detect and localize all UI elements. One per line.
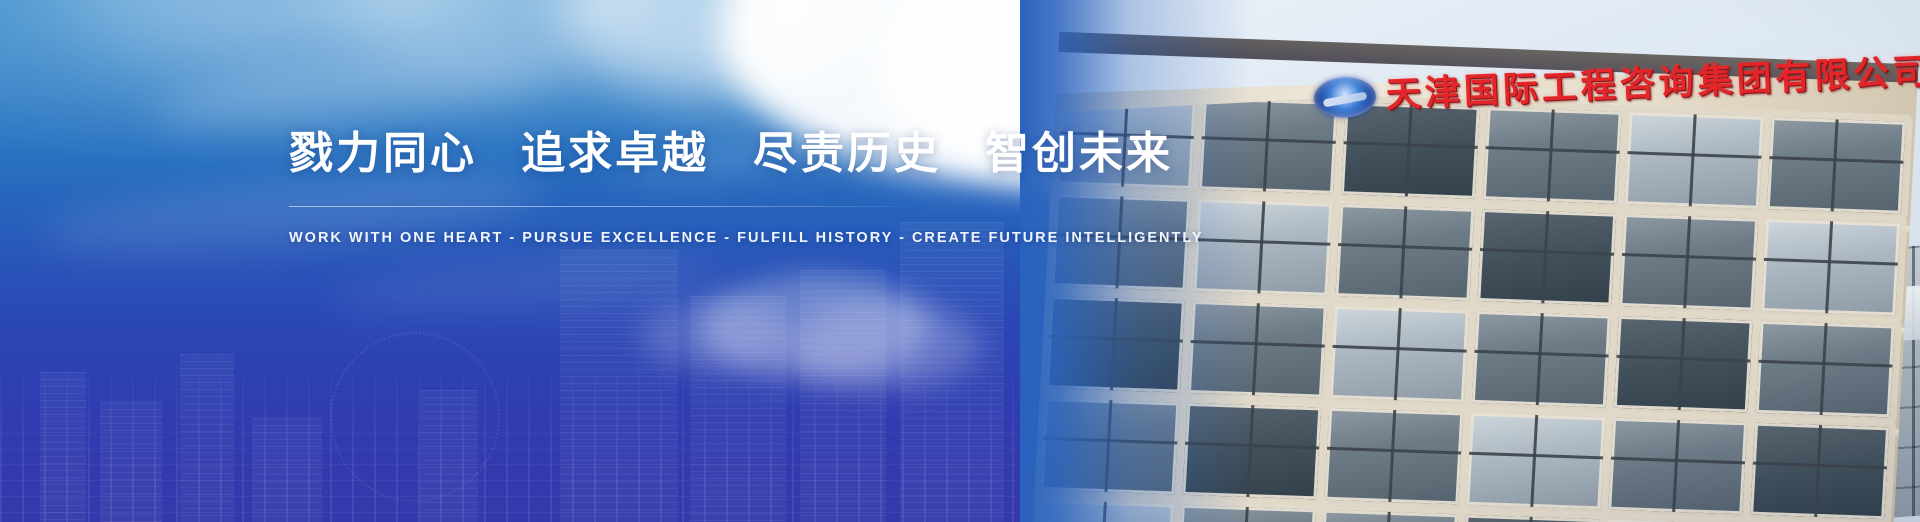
window bbox=[1040, 398, 1179, 495]
window bbox=[1035, 500, 1174, 522]
window bbox=[1619, 214, 1758, 311]
page-subtitle: WORK WITH ONE HEART - PURSUE EXCELLENCE … bbox=[289, 230, 1204, 246]
headline-phrase-4: 智创未来 bbox=[985, 128, 1173, 180]
window bbox=[1750, 423, 1889, 520]
office-building-photo: 天津国际工程咨询集团有限公司 bbox=[1020, 0, 1920, 522]
window bbox=[1472, 311, 1611, 408]
headline-phrase-3: 尽责历史 bbox=[753, 128, 941, 180]
window bbox=[1182, 403, 1321, 500]
headline-phrase-2: 追求卓越 bbox=[521, 128, 709, 180]
hero-banner: 天津国际工程咨询集团有限公司 戮力同心 追求卓越 尽责历史 智创未来 WORK … bbox=[0, 0, 1920, 522]
page-title: 戮力同心 追求卓越 尽责历史 智创未来 bbox=[289, 128, 1204, 180]
window bbox=[1177, 505, 1316, 522]
window bbox=[1324, 408, 1463, 505]
headline-phrase-1: 戮力同心 bbox=[289, 128, 477, 180]
window bbox=[1625, 112, 1764, 209]
low-cloud-2 bbox=[790, 300, 980, 390]
window bbox=[1330, 306, 1469, 403]
company-oval-logo-icon bbox=[1313, 76, 1377, 119]
window bbox=[1761, 219, 1900, 316]
window bbox=[1466, 413, 1605, 510]
window bbox=[1319, 510, 1458, 522]
window bbox=[1335, 204, 1474, 301]
building-sign-text: 天津国际工程咨询集团有限公司 bbox=[1385, 54, 1920, 113]
title-divider bbox=[289, 206, 929, 207]
window bbox=[1756, 321, 1895, 418]
window bbox=[1614, 316, 1753, 413]
window bbox=[1608, 418, 1747, 515]
window bbox=[1767, 117, 1906, 214]
window bbox=[1188, 301, 1327, 398]
headquarters-building: 天津国际工程咨询集团有限公司 bbox=[1031, 18, 1919, 522]
window bbox=[1483, 107, 1622, 204]
window bbox=[1193, 199, 1332, 296]
window bbox=[1461, 515, 1600, 522]
window bbox=[1046, 296, 1185, 393]
hero-copy-block: 戮力同心 追求卓越 尽责历史 智创未来 WORK WITH ONE HEART … bbox=[289, 128, 1204, 246]
window bbox=[1477, 209, 1616, 306]
